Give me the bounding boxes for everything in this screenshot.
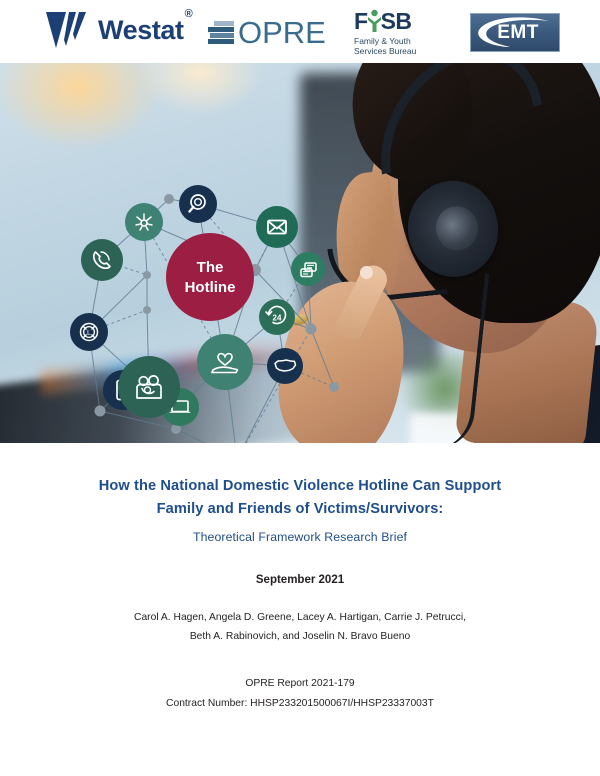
opre-bars-icon [208,21,234,45]
network-node-telephone [81,239,123,281]
network-node-usmap [267,348,303,384]
logo-opre: OPRE [208,17,326,48]
hotline-network-graphic: 24 [34,117,334,407]
fysb-person-icon [367,9,382,33]
hotline-label-line1: The [197,259,224,276]
fysb-subtitle-line1: Family & Youth [354,36,416,46]
authors-line2: Beth A. Rabinovich, and Joselin N. Bravo… [0,627,600,646]
network-node-hotline-center: The Hotline [166,233,254,321]
page-title-line2: Family and Friends of Victims/Survivors: [0,498,600,521]
fysb-subtitle: Family & Youth Services Bureau [354,36,416,56]
westat-trademark: ® [185,8,193,20]
westat-wordmark: Westat® [98,17,191,44]
fysb-wordmark: F SB [354,9,412,33]
network-node-care [197,334,253,390]
logo-westat: Westat® [44,10,191,50]
westat-wordmark-text: Westat [98,15,184,45]
publication-date: September 2021 [0,574,600,586]
fysb-wordmark-f: F [354,10,368,33]
hotline-label-line2: Hotline [185,279,236,296]
report-number: OPRE Report 2021-179 [0,674,600,694]
page-title-line1: How the National Domestic Violence Hotli… [0,475,600,498]
cover-text-block: How the National Domestic Violence Hotli… [0,443,600,713]
westat-chevron-icon [44,10,90,50]
emt-logo-box: EMT [470,13,560,52]
fysb-subtitle-line2: Services Bureau [354,46,416,56]
network-node-family [118,356,180,418]
contract-number: Contract Number: HHSP233201500067I/HHSP2… [0,694,600,714]
hero-photo-band: 24 [0,63,600,443]
opre-wordmark: OPRE [238,17,326,48]
logo-emt: EMT [470,13,560,52]
network-node-chat [291,252,325,286]
page-subtitle: Theoretical Framework Research Brief [0,530,600,544]
authors-list: Carol A. Hagen, Angela D. Greene, Lacey … [0,608,600,646]
logo-bar: Westat® OPRE F SB Family & Youth Service… [0,0,600,63]
network-node-compass [70,313,108,351]
network-node-burst [125,203,163,241]
network-node-24hours [259,299,295,335]
network-node-search [179,185,217,223]
authors-line1: Carol A. Hagen, Angela D. Greene, Lacey … [0,608,600,627]
logo-fysb: F SB Family & Youth Services Bureau [354,9,416,56]
network-node-email [256,206,298,248]
emt-wordmark: EMT [497,22,539,44]
fysb-wordmark-sb: SB [381,10,412,33]
